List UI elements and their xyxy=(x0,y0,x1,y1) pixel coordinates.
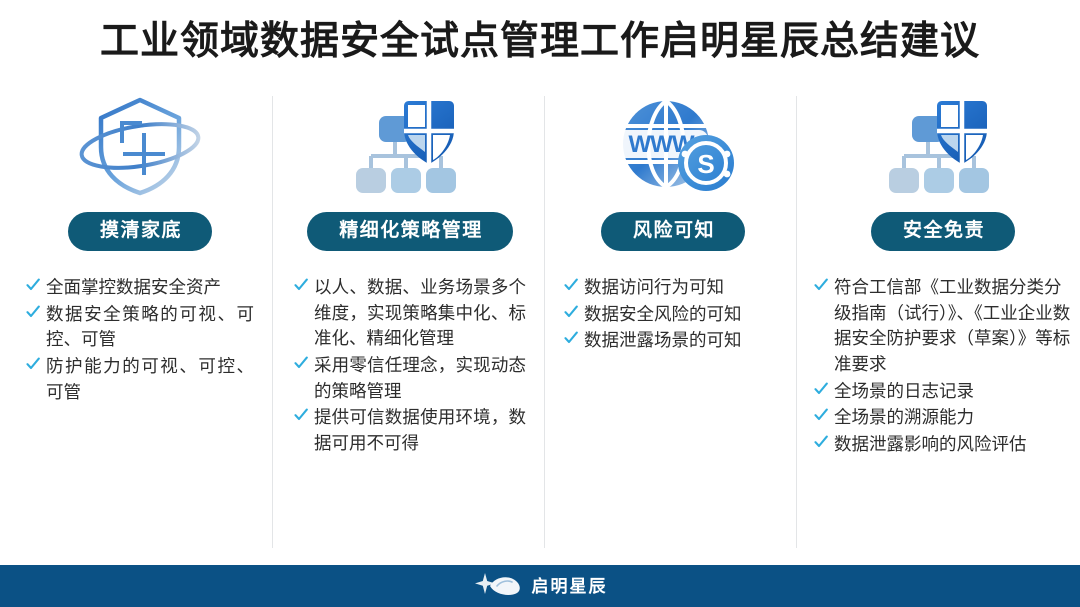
list-item: 全面掌控数据安全资产 xyxy=(26,275,254,301)
content-columns: 摸清家底 全面掌控数据安全资产 数据安全策略的可视、可控、可管 防护能力的可视、… xyxy=(0,88,1080,550)
list-item: 数据安全策略的可视、可控、可管 xyxy=(26,302,254,353)
list-item: 数据泄露场景的可知 xyxy=(564,328,782,354)
bullet-text: 数据访问行为可知 xyxy=(584,277,724,297)
content-column-3: WWW S 风险可知 xyxy=(544,88,796,550)
check-icon xyxy=(294,278,308,292)
list-item: 数据安全风险的可知 xyxy=(564,302,782,328)
bullet-list-3: 数据访问行为可知 数据安全风险的可知 数据泄露场景的可知 xyxy=(564,275,782,355)
footer-brand-text: 启明星辰 xyxy=(532,578,608,595)
check-icon xyxy=(564,278,578,292)
column-heading-3: 风险可知 xyxy=(601,212,745,251)
content-column-1: 摸清家底 全面掌控数据安全资产 数据安全策略的可视、可控、可管 防护能力的可视、… xyxy=(0,88,272,550)
venustech-star-cloud-logo-icon xyxy=(473,570,525,603)
footer-bar: 启明星辰 xyxy=(0,565,1080,607)
icon-container-4 xyxy=(814,88,1072,208)
network-tree-shield-icon xyxy=(884,94,1002,203)
check-icon xyxy=(564,305,578,319)
list-item: 全场景的溯源能力 xyxy=(814,405,1072,431)
bullet-text: 数据安全策略的可视、可控、可管 xyxy=(46,304,254,350)
svg-text:S: S xyxy=(697,149,714,179)
bullet-text: 防护能力的可视、可控、可管 xyxy=(46,356,254,402)
column-heading-4: 安全免责 xyxy=(871,212,1015,251)
check-icon xyxy=(26,357,40,371)
bullet-text: 全场景的溯源能力 xyxy=(834,407,974,427)
bullet-text: 数据安全风险的可知 xyxy=(584,304,742,324)
bullet-text: 符合工信部《工业数据分类分级指南（试行）》、《工业企业数据安全防护要求（草案）》… xyxy=(834,277,1070,374)
column-heading-2: 精细化策略管理 xyxy=(307,212,513,251)
check-icon xyxy=(294,356,308,370)
check-icon xyxy=(814,435,828,449)
list-item: 数据泄露影响的风险评估 xyxy=(814,432,1072,458)
shield-crosshair-orbit-icon xyxy=(74,91,206,206)
bullet-text: 数据泄露影响的风险评估 xyxy=(834,434,1027,454)
icon-container-2 xyxy=(294,88,526,208)
bullet-text: 数据泄露场景的可知 xyxy=(584,330,742,350)
list-item: 全场景的日志记录 xyxy=(814,379,1072,405)
check-icon xyxy=(26,278,40,292)
content-column-2: 精细化策略管理 以人、数据、业务场景多个维度，实现策略集中化、标准化、精细化管理… xyxy=(272,88,544,550)
bullet-text: 全场景的日志记录 xyxy=(834,381,974,401)
bullet-text: 提供可信数据使用环境，数据可用不可得 xyxy=(314,407,526,453)
column-heading-1: 摸清家底 xyxy=(68,212,212,251)
page-title: 工业领域数据安全试点管理工作启明星辰总结建议 xyxy=(0,0,1080,70)
list-item: 采用零信任理念，实现动态的策略管理 xyxy=(294,353,526,404)
footer-logo: 启明星辰 xyxy=(473,570,608,603)
globe-www-security-badge-icon: WWW S xyxy=(610,94,736,203)
list-item: 数据访问行为可知 xyxy=(564,275,782,301)
list-item: 防护能力的可视、可控、可管 xyxy=(26,354,254,405)
bullet-text: 全面掌控数据安全资产 xyxy=(46,277,221,297)
check-icon xyxy=(814,382,828,396)
check-icon xyxy=(26,305,40,319)
bullet-text: 以人、数据、业务场景多个维度，实现策略集中化、标准化、精细化管理 xyxy=(314,277,526,348)
bullet-list-1: 全面掌控数据安全资产 数据安全策略的可视、可控、可管 防护能力的可视、可控、可管 xyxy=(26,275,254,407)
bullet-text: 采用零信任理念，实现动态的策略管理 xyxy=(314,355,526,401)
icon-container-1 xyxy=(26,88,254,208)
list-item: 符合工信部《工业数据分类分级指南（试行）》、《工业企业数据安全防护要求（草案）》… xyxy=(814,275,1072,378)
network-tree-shield-icon xyxy=(351,94,469,203)
check-icon xyxy=(294,408,308,422)
list-item: 以人、数据、业务场景多个维度，实现策略集中化、标准化、精细化管理 xyxy=(294,275,526,352)
icon-container-3: WWW S xyxy=(564,88,782,208)
check-icon xyxy=(814,278,828,292)
check-icon xyxy=(814,408,828,422)
content-column-4: 安全免责 符合工信部《工业数据分类分级指南（试行）》、《工业企业数据安全防护要求… xyxy=(796,88,1080,550)
bullet-list-2: 以人、数据、业务场景多个维度，实现策略集中化、标准化、精细化管理 采用零信任理念… xyxy=(294,275,526,458)
check-icon xyxy=(564,331,578,345)
list-item: 提供可信数据使用环境，数据可用不可得 xyxy=(294,405,526,456)
bullet-list-4: 符合工信部《工业数据分类分级指南（试行）》、《工业企业数据安全防护要求（草案）》… xyxy=(814,275,1072,459)
